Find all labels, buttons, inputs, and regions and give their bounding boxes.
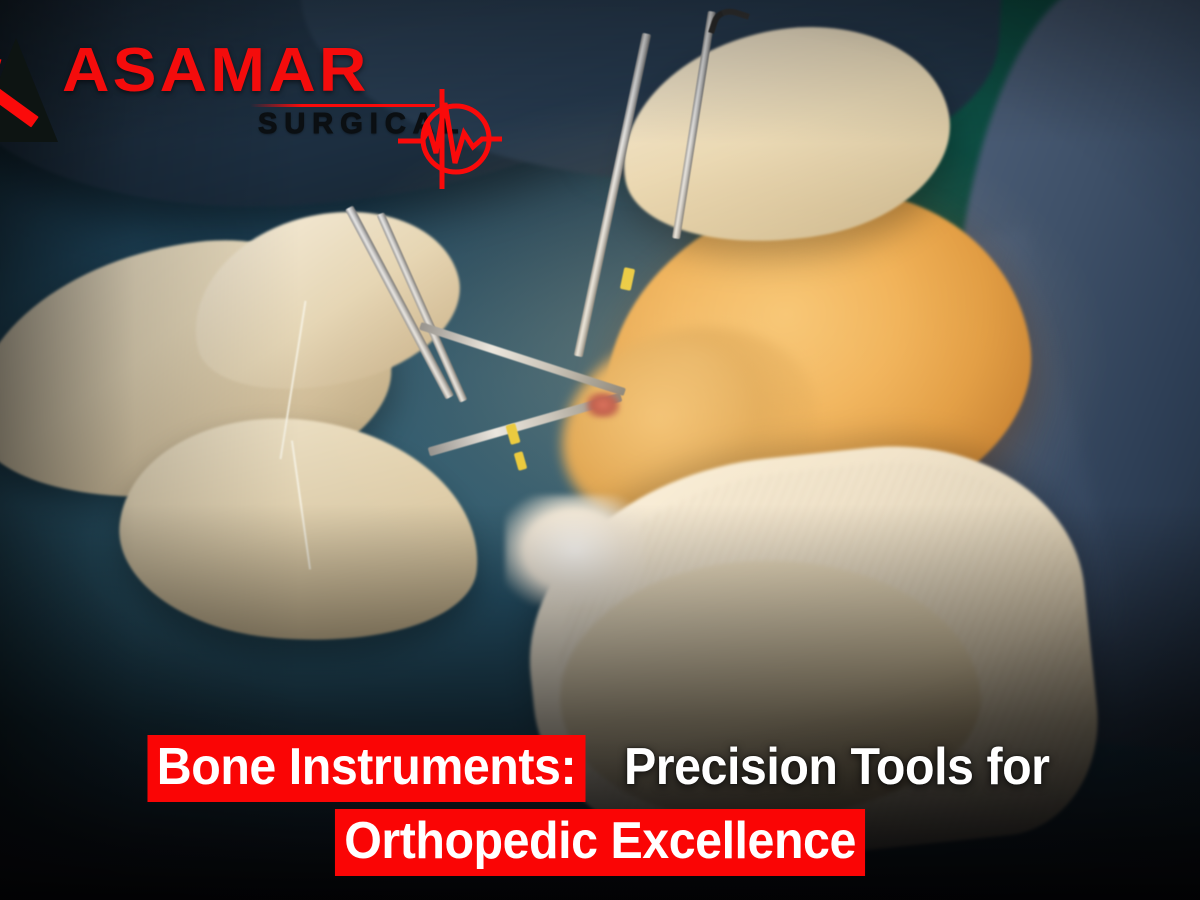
headline-plain-precision-tools-for: Precision Tools for [618,735,1053,802]
brand-logo[interactable]: ASAMAR SURGICAL [0,34,500,154]
headline: Bone Instruments:Precision Tools for Ort… [0,735,1200,876]
banner: ASAMAR SURGICAL Bone Instruments:Precisi… [0,0,1200,900]
gauze-pad [505,495,645,605]
ecg-pulse-circle-icon [398,89,502,189]
headline-line-2: Orthopedic Excellence [0,809,1200,876]
brand-name: ASAMAR [62,40,370,102]
asamar-a-monogram-icon [0,38,60,150]
headline-highlight-orthopedic-excellence: Orthopedic Excellence [335,809,865,876]
headline-highlight-bone-instruments: Bone Instruments: [147,735,585,802]
headline-line-1: Bone Instruments:Precision Tools for [0,735,1200,802]
incision-site [586,392,620,418]
